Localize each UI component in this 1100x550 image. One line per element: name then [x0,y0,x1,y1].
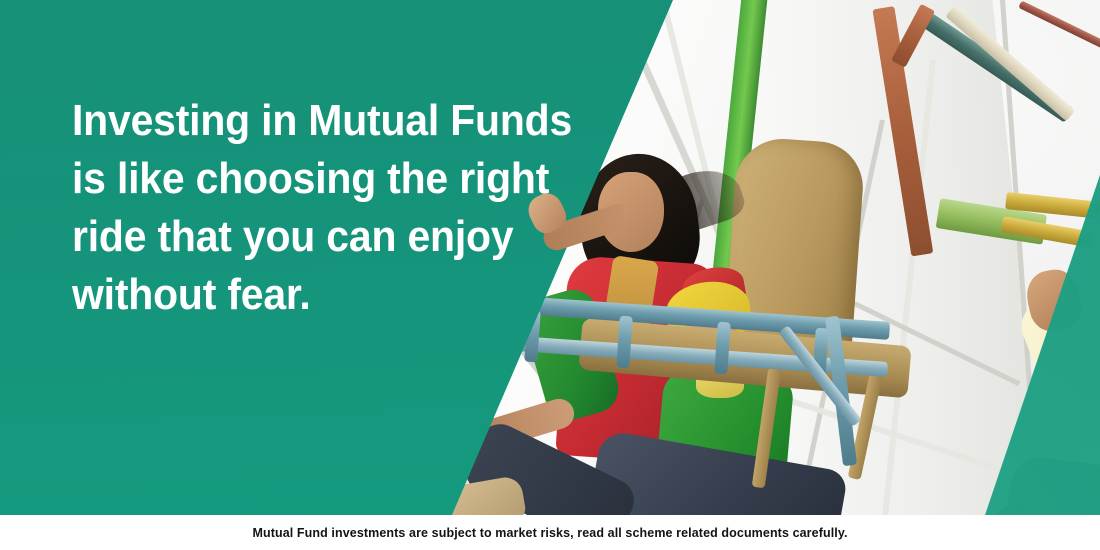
headline: Investing in Mutual Funds is like choosi… [72,92,556,324]
mutual-funds-banner: Investing in Mutual Funds is like choosi… [0,0,1100,550]
mother-head [598,172,664,252]
headline-line-1: Investing in Mutual Funds [72,92,556,150]
disclaimer-text: Mutual Fund investments are subject to m… [252,526,847,540]
headline-line-2: is like choosing the right [72,150,556,208]
headline-line-3: ride that you can enjoy [72,208,556,266]
disclaimer-bar: Mutual Fund investments are subject to m… [0,515,1100,550]
headline-line-4: without fear. [72,266,556,324]
